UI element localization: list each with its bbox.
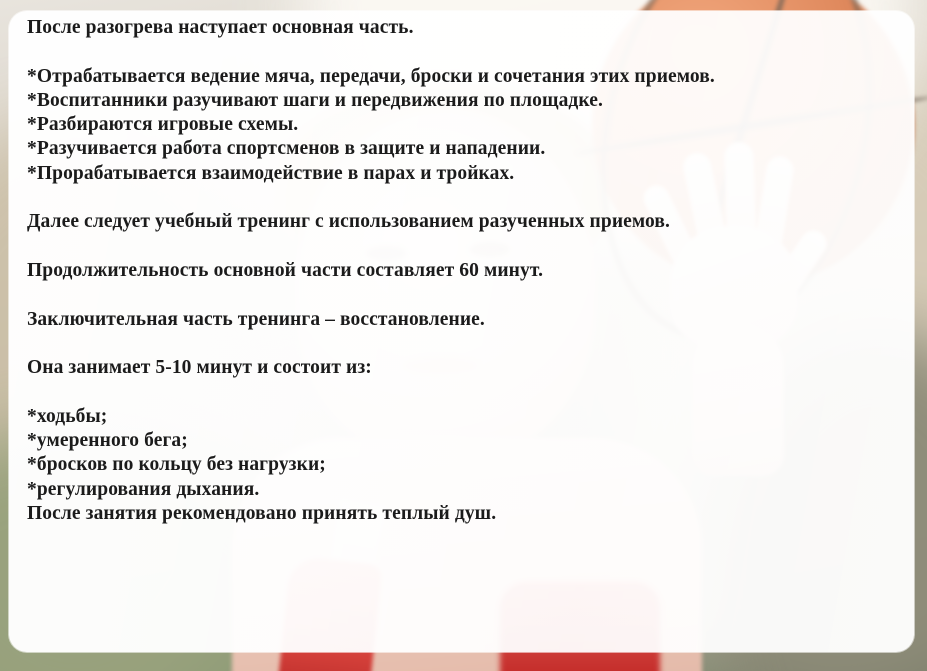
- slide-stage: После разогрева наступает основная часть…: [0, 0, 927, 671]
- article-text: После разогрева наступает основная часть…: [27, 16, 872, 526]
- paragraph-final-duration: Она занимает 5-10 минут и состоит из:: [27, 356, 872, 380]
- paragraph-training-follows: Далее следует учебный тренинг с использо…: [27, 210, 872, 234]
- paragraph-main-part-list: *Отрабатывается ведение мяча, передачи, …: [27, 65, 872, 186]
- paragraph-duration: Продолжительность основной части составл…: [27, 259, 872, 283]
- paragraph-final-list: *ходьбы; *умеренного бега; *бросков по к…: [27, 405, 872, 526]
- paragraph-final-part: Заключительная часть тренинга – восстано…: [27, 308, 872, 332]
- paragraph-intro: После разогрева наступает основная часть…: [27, 16, 872, 40]
